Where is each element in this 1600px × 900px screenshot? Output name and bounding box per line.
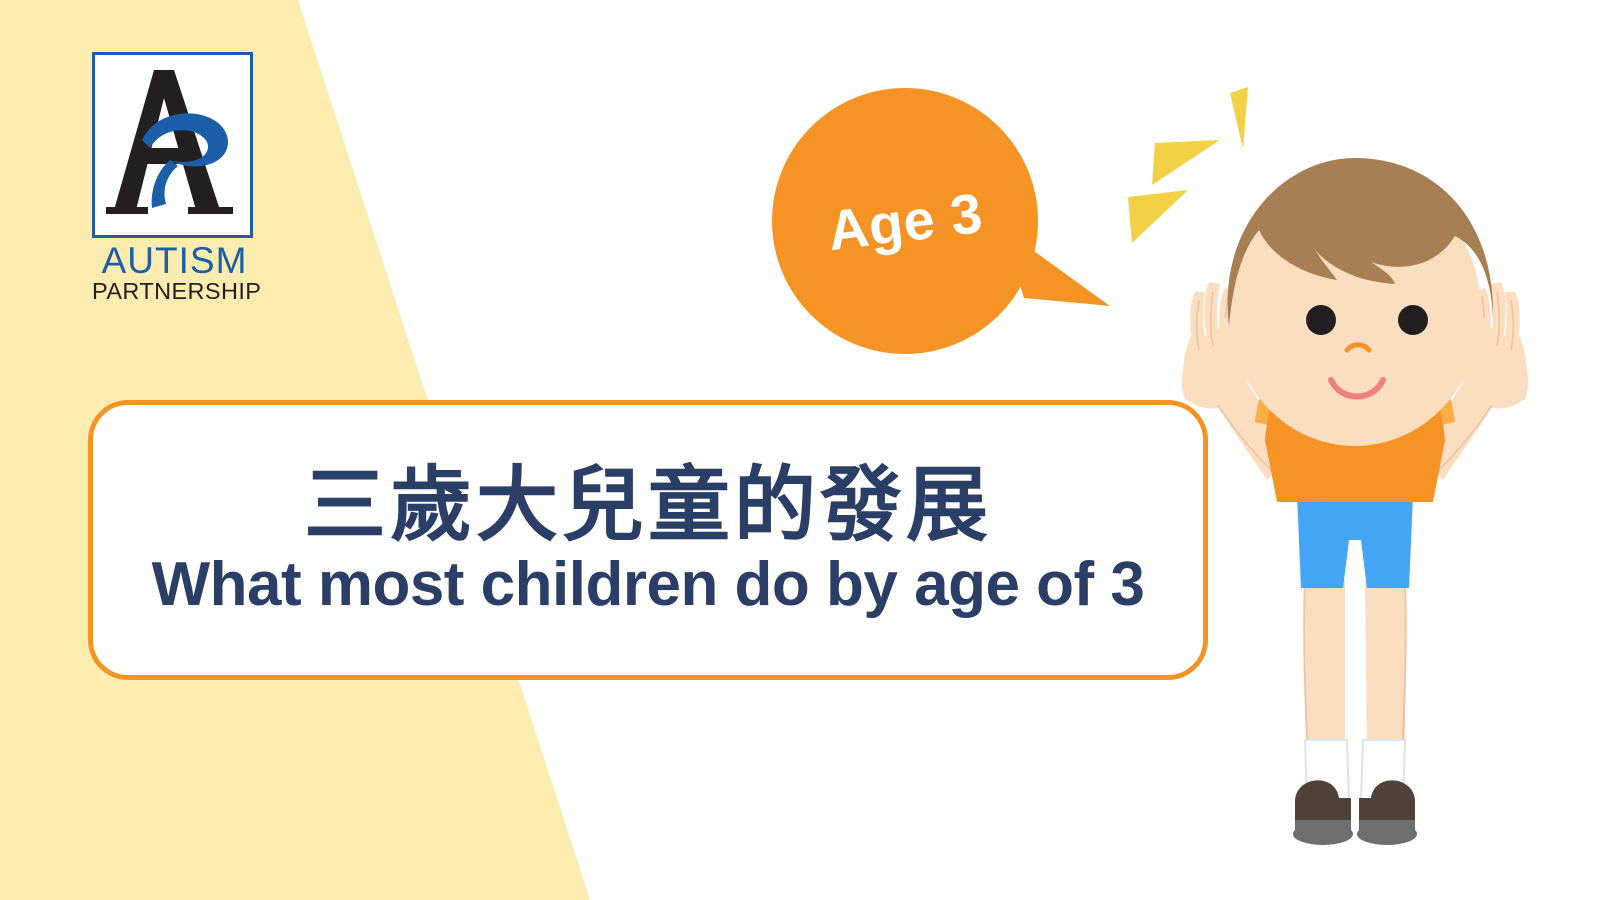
legs: [1304, 580, 1406, 750]
title-card: 三歲大兒童的發展 What most children do by age of…: [88, 400, 1208, 680]
age-badge-text-wrap: Age 3: [757, 73, 1053, 369]
logo-text-partnership: PARTNERSHIP: [92, 280, 257, 304]
poster-canvas: AUTISM PARTNERSHIP Age 3: [0, 0, 1600, 900]
shorts: [1297, 495, 1413, 588]
page-title-chinese: 三歲大兒童的發展: [304, 463, 992, 549]
right-eye: [1398, 305, 1428, 335]
shoes: [1293, 780, 1417, 845]
autism-partnership-a-monogram-icon: [92, 52, 253, 238]
age-badge-label: Age 3: [824, 179, 986, 262]
page-title-english: What most children do by age of 3: [152, 552, 1145, 617]
boy-character-illustration: [1155, 150, 1555, 865]
age-badge-speech-bubble[interactable]: Age 3: [772, 88, 1112, 378]
logo-text-autism: AUTISM: [92, 242, 257, 279]
left-eye: [1306, 305, 1336, 335]
autism-partnership-logo[interactable]: AUTISM PARTNERSHIP: [92, 52, 257, 317]
